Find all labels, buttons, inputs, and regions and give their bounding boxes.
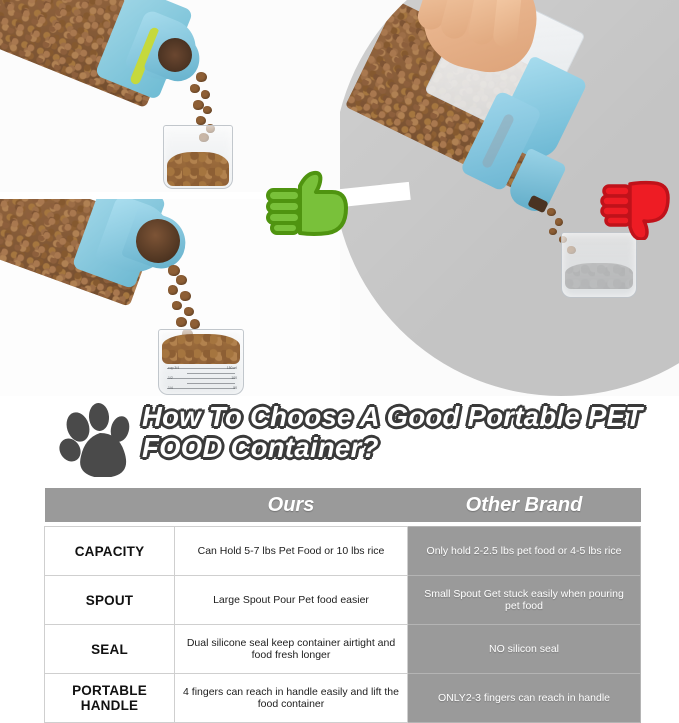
cup-label-1: 1/2 xyxy=(168,376,173,380)
page-title-line-1: How To Choose A Good Portable PET xyxy=(142,401,642,432)
row-other-capacity: Only hold 2-2.5 lbs pet food or 4-5 lbs … xyxy=(408,527,641,576)
comparison-table: Ours Other Brand CAPACITY Can Hold 5-7 l… xyxy=(44,488,641,723)
measuring-cup-icon xyxy=(163,125,233,189)
table-row: PORTABLE HANDLE 4 fingers can reach in h… xyxy=(45,674,641,723)
kibble-in-cup xyxy=(162,334,240,364)
row-ours-seal: Dual silicone seal keep container airtig… xyxy=(175,625,408,674)
table-row: SEAL Dual silicone seal keep container a… xyxy=(45,625,641,674)
page-title: How To Choose A Good Portable PET FOOD C… xyxy=(142,401,662,463)
product-comparison-photo-banner: cup 3/4 1/2 1/4 150 ml 100 50 xyxy=(0,0,679,396)
cup-label-3: 150 ml xyxy=(227,366,237,370)
kibble-in-cup-sparse xyxy=(565,263,633,289)
cup-label-5: 50 xyxy=(233,386,237,390)
page-title-line-2: FOOD Container? xyxy=(142,432,379,463)
column-header-ours: Ours xyxy=(175,488,408,522)
row-other-portable-handle: ONLY2-3 fingers can reach in handle xyxy=(408,674,641,723)
row-ours-spout: Large Spout Pour Pet food easier xyxy=(175,576,408,625)
row-other-seal: NO silicon seal xyxy=(408,625,641,674)
paw-print-icon xyxy=(58,403,142,477)
row-ours-capacity: Can Hold 5-7 lbs Pet Food or 10 lbs rice xyxy=(175,527,408,576)
row-ours-portable-handle: 4 fingers can reach in handle easily and… xyxy=(175,674,408,723)
column-header-other-brand: Other Brand xyxy=(408,488,641,522)
thumbs-up-icon xyxy=(262,170,358,240)
row-feature-capacity: CAPACITY xyxy=(45,527,175,576)
cup-label-4: 100 xyxy=(231,376,237,380)
table-row: SPOUT Large Spout Pour Pet food easier S… xyxy=(45,576,641,625)
thumbs-down-icon xyxy=(600,172,670,240)
row-feature-portable-handle: PORTABLE HANDLE xyxy=(45,674,175,723)
measuring-cup-icon: cup 3/4 1/2 1/4 150 ml 100 50 xyxy=(158,329,244,395)
row-feature-seal: SEAL xyxy=(45,625,175,674)
photo-ours-pouring-into-cup xyxy=(0,0,340,192)
cup-label-0: cup 3/4 xyxy=(168,366,179,370)
cup-label-2: 1/4 xyxy=(168,386,173,390)
row-feature-spout: SPOUT xyxy=(45,576,175,625)
section-heading: How To Choose A Good Portable PET FOOD C… xyxy=(0,398,679,484)
column-header-feature xyxy=(45,488,175,522)
row-other-spout: Small Spout Get stuck easily when pourin… xyxy=(408,576,641,625)
kibble-in-cup xyxy=(167,152,229,186)
measuring-cup-icon xyxy=(561,232,637,298)
table-header-row: Ours Other Brand xyxy=(45,488,641,522)
table-row: CAPACITY Can Hold 5-7 lbs Pet Food or 10… xyxy=(45,527,641,576)
measuring-cup-graduations xyxy=(167,368,235,392)
